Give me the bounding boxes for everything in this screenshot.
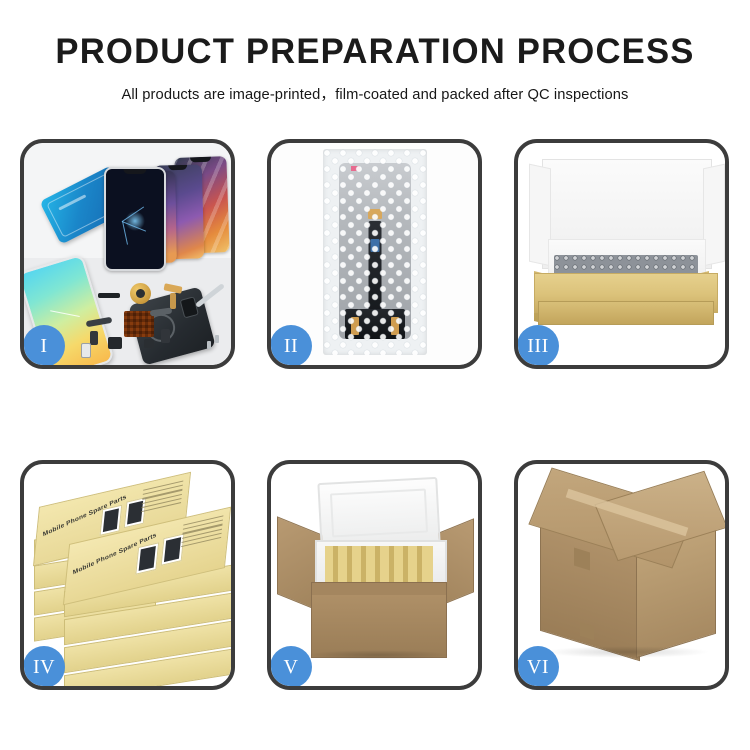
foam-lid [317,477,440,549]
step-badge-5: V [270,646,312,688]
retail-box-stack: Mobile Phone Spare Parts Mobile Phone Sp… [28,482,231,678]
part-connector [90,331,98,345]
page-subtitle: All products are image-printed，film-coat… [0,69,750,104]
part-battery-cell [161,329,170,343]
kraft-tray-front [538,301,714,325]
carton-body [311,582,447,658]
part-wireless-coil [130,283,151,304]
step-badge-1: I [23,325,65,367]
process-step-panel-1: I [20,139,235,369]
phone-display-shattered [104,167,166,271]
sealed-carton-shadow [544,646,710,658]
page-header: PRODUCT PREPARATION PROCESS All products… [0,0,750,104]
part-speaker [108,337,122,349]
box-lid-spec-lines-front [181,515,224,550]
part-screw-2 [207,341,211,349]
process-step-panel-4: Mobile Phone Spare Parts Mobile Phone Sp… [20,460,235,690]
carton-shadow [305,650,451,660]
box-lid-spec-lines-rear [141,481,184,516]
bubble-wrap-bag [323,149,427,355]
yellow-boxes-inside-carton [325,546,433,584]
step-badge-4: IV [23,646,65,688]
part-antenna-strip [98,293,120,298]
part-screw-1 [215,335,219,343]
lcd-screen-assembly [339,163,411,339]
step-badge-6: VI [517,646,559,688]
part-chip [144,339,154,348]
process-step-panel-2: II [267,139,482,369]
step-badge-2: II [270,325,312,367]
part-flex-cable-2 [170,293,176,309]
process-step-panel-5: V [267,460,482,690]
step-badge-3: III [517,325,559,367]
process-steps-grid: I II [20,139,730,691]
page-title: PRODUCT PREPARATION PROCESS [4,34,747,69]
box-lid-product-photo-1 [100,505,123,536]
process-step-panel-3: III [514,139,729,369]
part-logic-board [124,311,154,337]
box-lid-product-photo-3 [135,542,159,575]
part-sim-tray [81,343,91,358]
process-step-panel-6: VI [514,460,729,690]
